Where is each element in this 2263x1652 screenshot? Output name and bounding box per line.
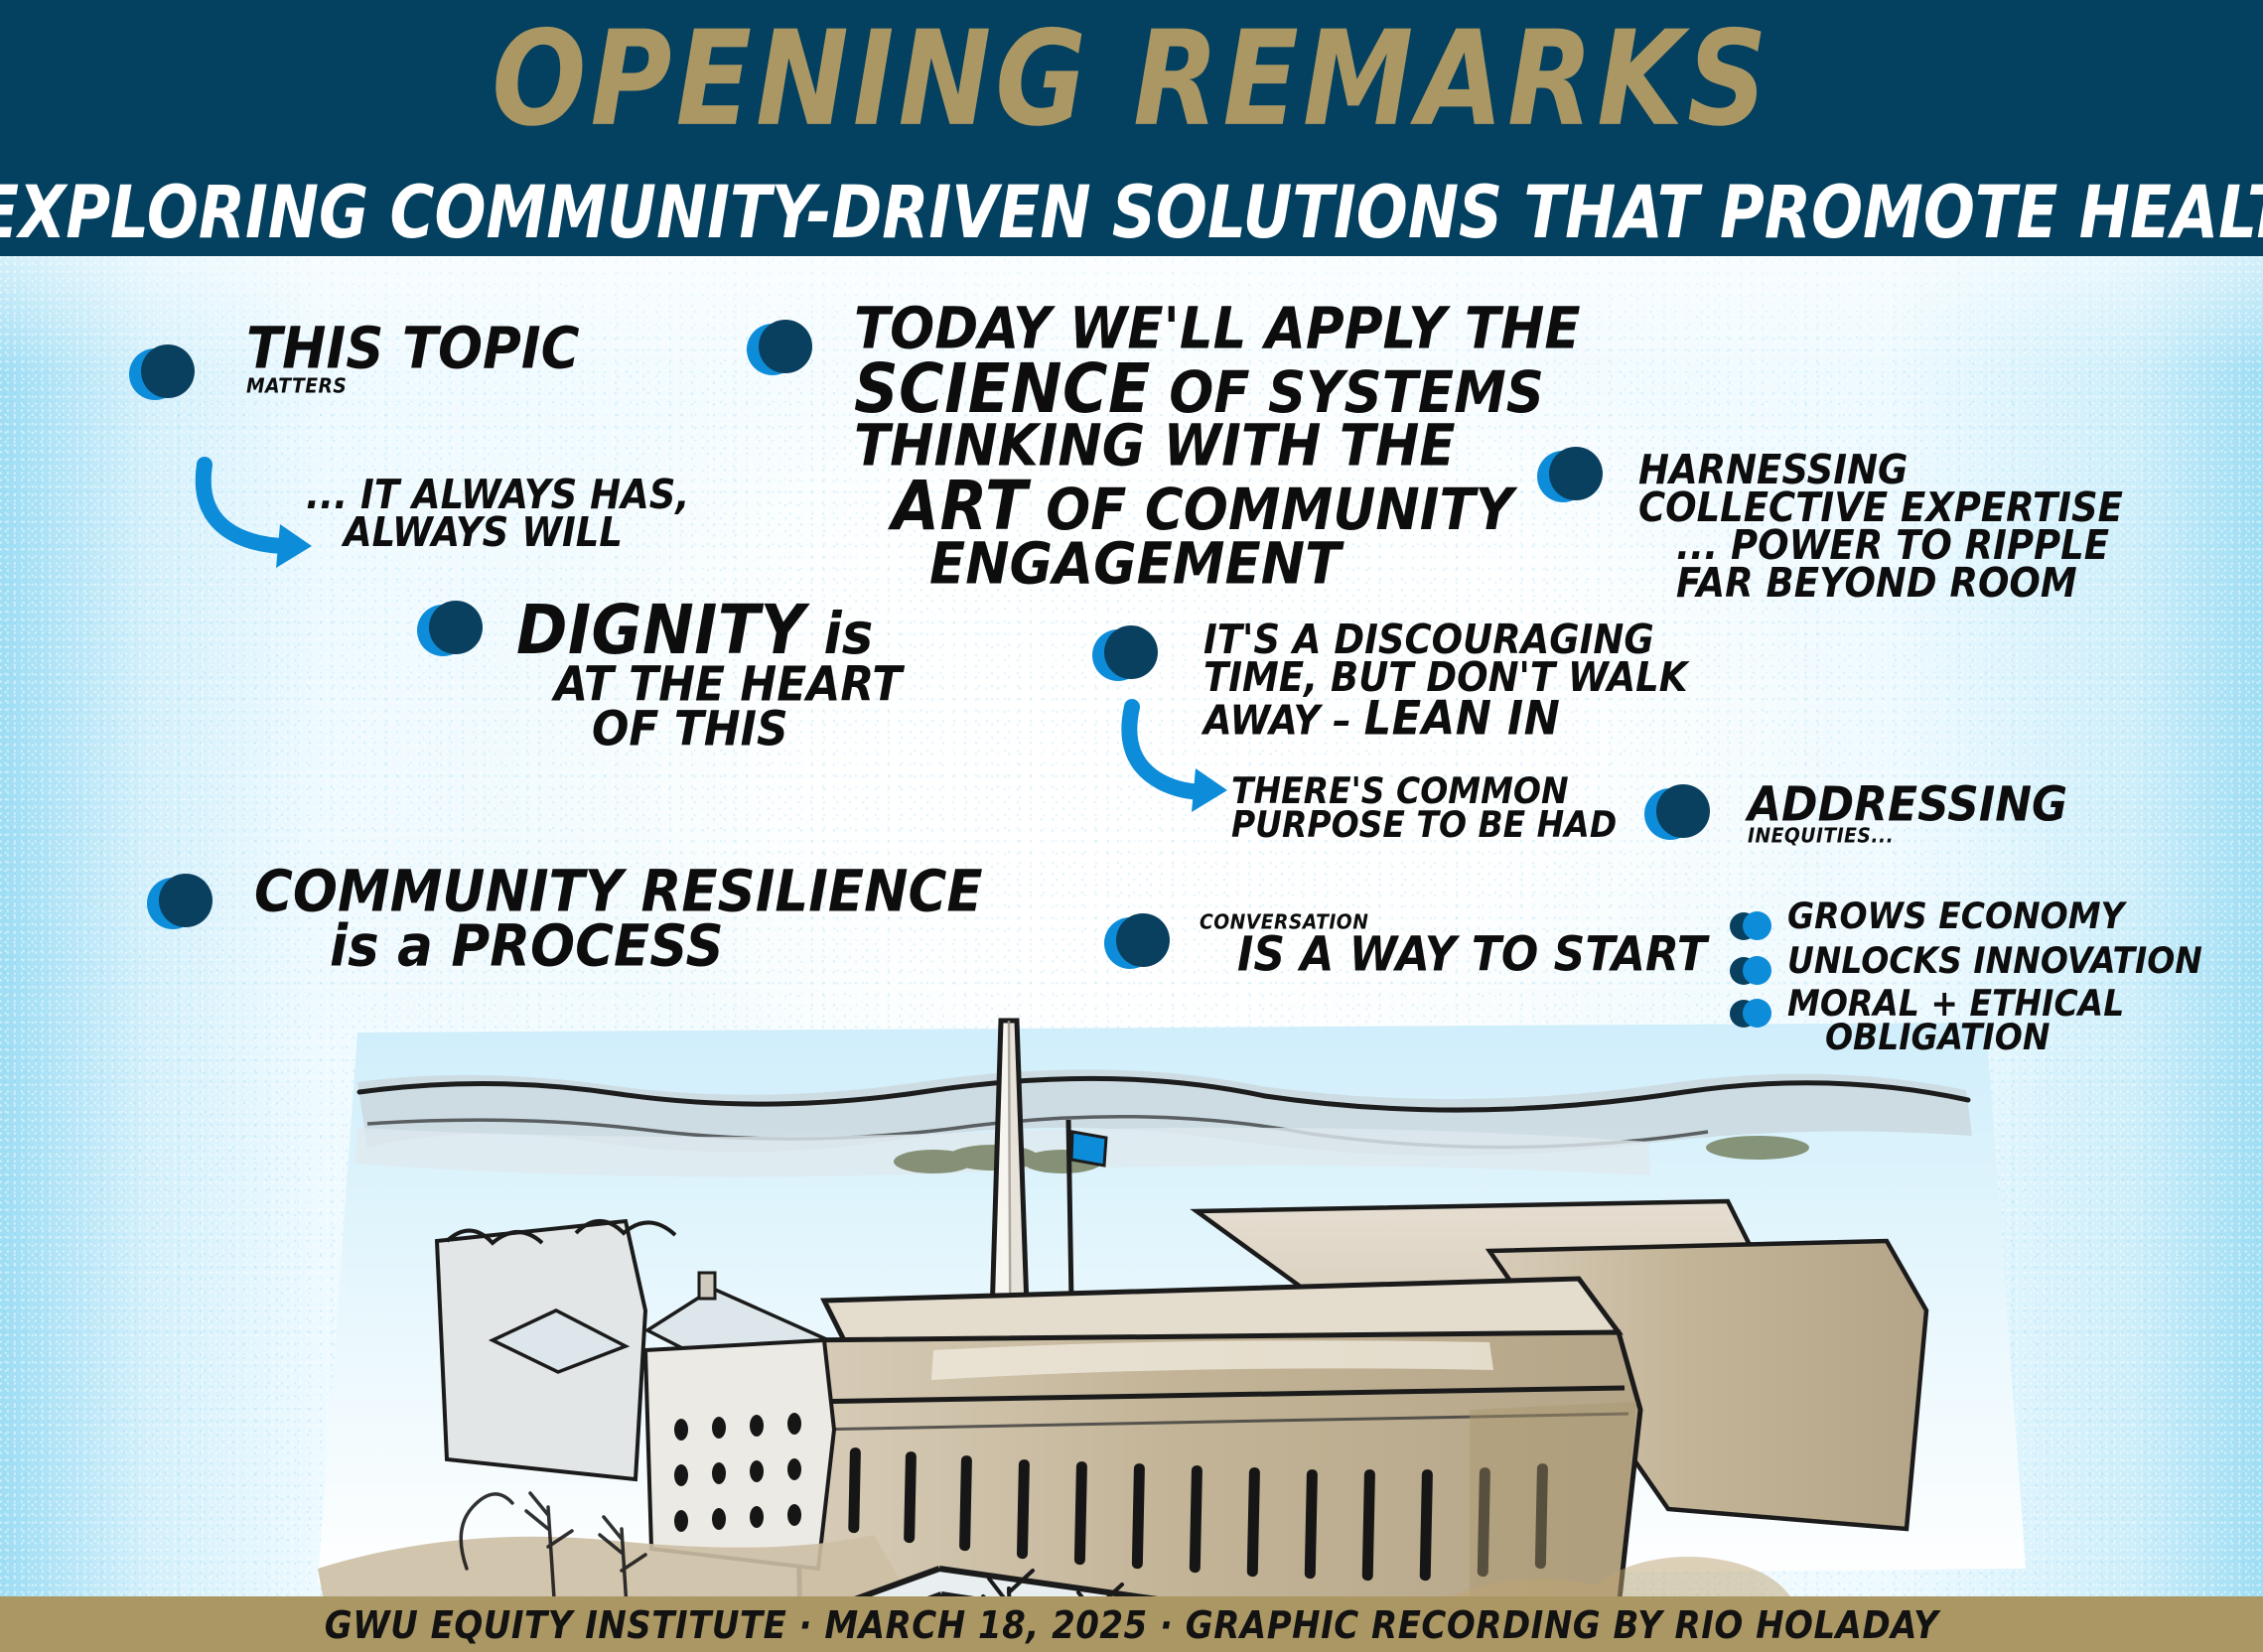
credit-line: GWU EQUITY INSTITUTE · MARCH 18, 2025 · …	[0, 1598, 2263, 1652]
note-line: OF THIS	[516, 705, 902, 755]
note-always-has: ... IT ALWAYS HAS, ALWAYS WILL	[306, 477, 689, 552]
note-line: UNLOCKS INNOVATION	[1787, 942, 2202, 979]
note-line: MATTERS	[246, 376, 580, 397]
page-title: OPENING REMARKS	[0, 14, 2263, 145]
emphasis-lean-in: LEAN IN	[1364, 692, 1561, 747]
bullet-dot-topic-matters	[129, 344, 193, 402]
note-science-art: TODAY WE'LL APPLY THE SCIENCE OF SYSTEMS…	[854, 303, 1581, 592]
bullet-dot-science-art	[747, 320, 810, 377]
note-line: INEQUITIES...	[1748, 826, 2067, 847]
graphic-recording-poster: OPENING REMARKS EXPLORING COMMUNITY-DRIV…	[0, 0, 2263, 1652]
curved-arrow-topic	[185, 457, 324, 566]
bullet-dot-conversation	[1104, 913, 1168, 971]
note-line: ALWAYS WILL	[306, 512, 689, 554]
note-line: GROWS ECONOMY	[1787, 897, 2124, 934]
sub-bullet-dot-unlocks-innovation	[1730, 956, 1771, 986]
note-topic-matters: THIS TOPIC MATTERS	[246, 323, 580, 396]
note-moral-ethical: MORAL + ETHICAL OBLIGATION	[1787, 987, 2124, 1054]
note-line: ENGAGEMENT	[854, 535, 1581, 595]
note-line-dignity: DIGNITY is	[516, 596, 902, 665]
note-line: OBLIGATION	[1787, 1019, 2124, 1055]
note-inequities: ADDRESSING INEQUITIES...	[1748, 782, 2067, 847]
note-lean-in: IT'S A DISCOURAGING TIME, BUT DON'T WALK…	[1203, 621, 1687, 742]
bullet-dot-resilience	[147, 874, 211, 931]
bullet-dot-harnessing	[1537, 447, 1601, 504]
footer-band: GWU EQUITY INSTITUTE · MARCH 18, 2025 · …	[0, 1596, 2263, 1652]
bullet-dot-inequities	[1644, 784, 1708, 842]
note-resilience: COMMUNITY RESILIENCE is a PROCESS	[254, 866, 983, 974]
note-line: IS A WAY TO START	[1200, 930, 1707, 980]
sub-bullet-dot-grows-economy	[1730, 911, 1771, 941]
note-common-purpose: THERE'S COMMON PURPOSE TO BE HAD	[1231, 774, 1617, 842]
bullet-dot-lean-in	[1092, 625, 1156, 683]
note-unlocks-innovation: UNLOCKS INNOVATION	[1787, 944, 2202, 978]
header-band: OPENING REMARKS EXPLORING COMMUNITY-DRIV…	[0, 0, 2263, 256]
note-line: PURPOSE TO BE HAD	[1231, 806, 1617, 843]
curved-arrow-lean-in	[1110, 701, 1249, 810]
page-subtitle: EXPLORING COMMUNITY-DRIVEN SOLUTIONS THA…	[0, 177, 2263, 249]
note-line: is a PROCESS	[254, 917, 983, 977]
note-line-lean: AWAY – LEAN IN	[1203, 695, 1687, 744]
note-harnessing: HARNESSING COLLECTIVE EXPERTISE ... POWE…	[1638, 452, 2123, 603]
note-grows-economy: GROWS ECONOMY	[1787, 899, 2124, 933]
note-line: THIS TOPIC	[246, 320, 580, 379]
note-line: ADDRESSING	[1748, 780, 2067, 830]
note-dignity: DIGNITY is AT THE HEART OF THIS	[516, 599, 902, 753]
note-line: FAR BEYOND ROOM	[1638, 563, 2123, 605]
note-conversation: CONVERSATION IS A WAY TO START	[1200, 913, 1707, 978]
sub-bullet-dot-moral-ethical	[1730, 999, 1771, 1029]
bullet-dot-dignity	[417, 601, 481, 658]
